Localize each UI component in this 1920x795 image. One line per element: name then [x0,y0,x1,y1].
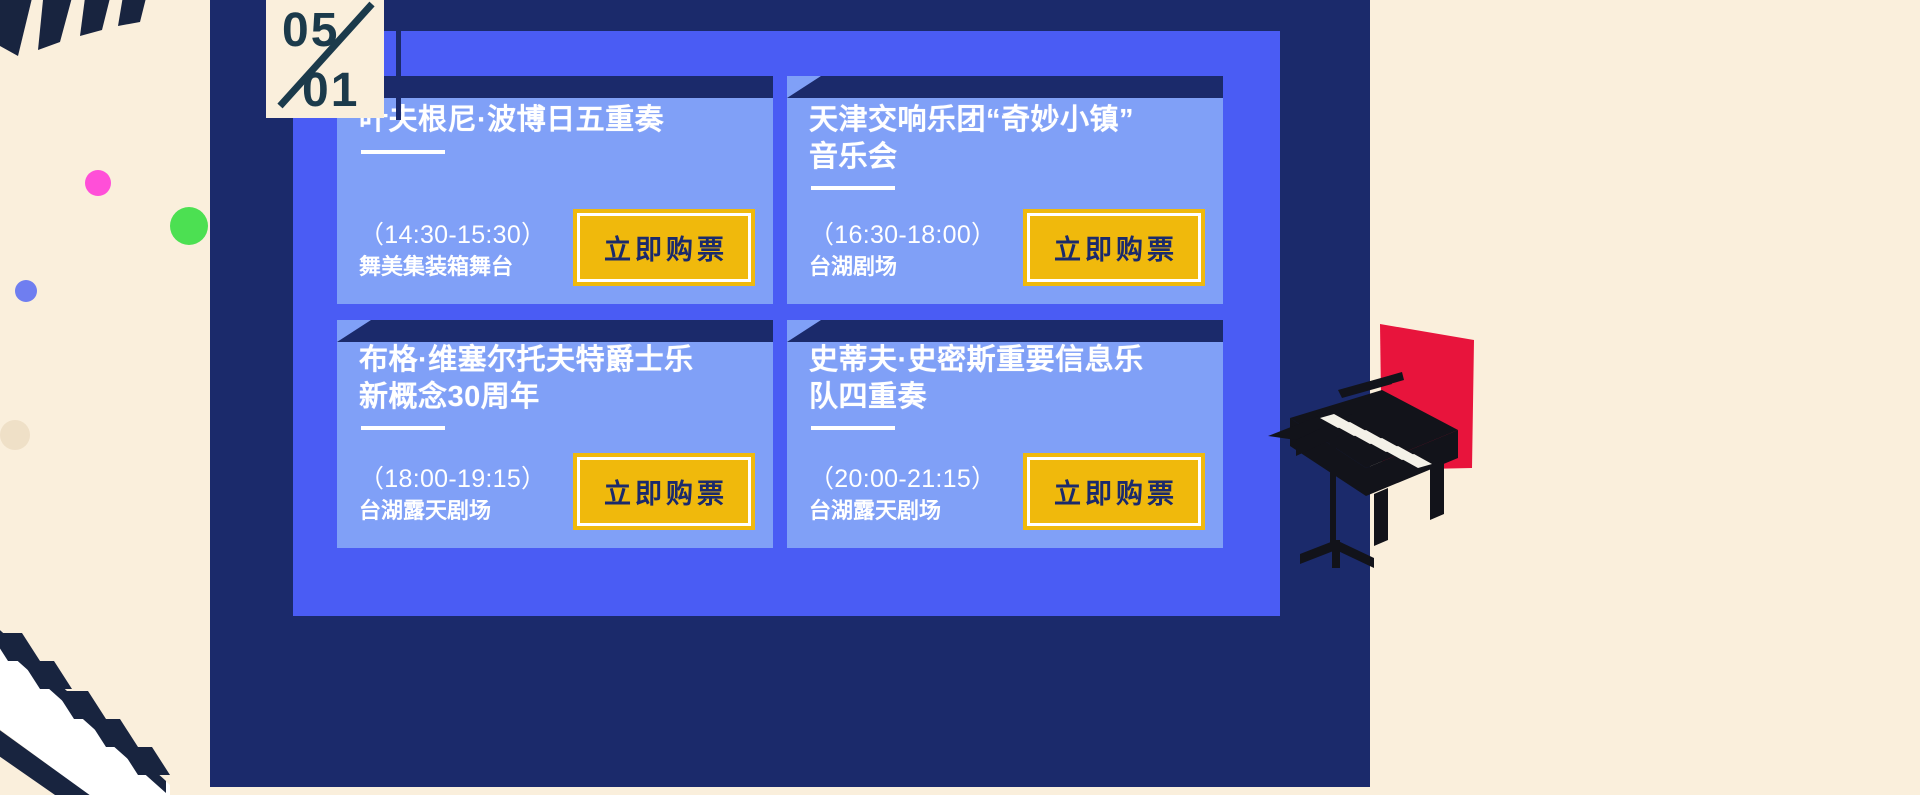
event-card[interactable]: 叶夫根尼·波博日五重奏 （14:30-15:30） 舞美集装箱舞台 立即购票 [337,76,773,304]
event-time: （14:30-15:30） [359,219,546,251]
buy-ticket-button[interactable]: 立即购票 [577,213,751,282]
piano-illustration [1262,318,1542,618]
title-underline [361,150,445,154]
title-underline [361,426,445,430]
event-title: 叶夫根尼·波博日五重奏 [359,102,747,139]
buy-ticket-button[interactable]: 立即购票 [577,457,751,526]
green-dot [170,207,208,245]
event-venue: 台湖露天剧场 [809,497,996,526]
event-title: 布格·维塞尔托夫特爵士乐 新概念30周年 [359,342,747,415]
event-card-grid: 叶夫根尼·波博日五重奏 （14:30-15:30） 舞美集装箱舞台 立即购票 天… [337,76,1242,548]
event-card[interactable]: 史蒂夫·史密斯重要信息乐 队四重奏 （20:00-21:15） 台湖露天剧场 立… [787,320,1223,548]
date-badge: 05 01 [266,0,384,118]
title-underline [811,426,895,430]
pink-dot [85,170,111,196]
event-time: （18:00-19:15） [359,463,546,495]
event-venue: 台湖剧场 [809,253,996,282]
event-title: 天津交响乐团“奇妙小镇” 音乐会 [809,102,1197,175]
event-meta: （18:00-19:15） 台湖露天剧场 [359,463,546,526]
pale-dot [0,420,30,450]
buy-ticket-button[interactable]: 立即购票 [1027,457,1201,526]
event-time: （20:00-21:15） [809,463,996,495]
event-venue: 舞美集装箱舞台 [359,253,546,282]
buy-ticket-button[interactable]: 立即购票 [1027,213,1201,282]
badge-vertical-rule [396,0,401,120]
event-card[interactable]: 布格·维塞尔托夫特爵士乐 新概念30周年 （18:00-19:15） 台湖露天剧… [337,320,773,548]
event-meta: （20:00-21:15） 台湖露天剧场 [809,463,996,526]
event-title: 史蒂夫·史密斯重要信息乐 队四重奏 [809,342,1197,415]
event-meta: （14:30-15:30） 舞美集装箱舞台 [359,219,546,282]
event-time: （16:30-18:00） [809,219,996,251]
title-underline [811,186,895,190]
piano-keys-top-decor [0,0,220,110]
poster-stage: 05 01 叶夫根尼·波博日五重奏 （14:30-15:30） 舞美集装箱舞台 … [0,0,1920,787]
event-card[interactable]: 天津交响乐团“奇妙小镇” 音乐会 （16:30-18:00） 台湖剧场 立即购票 [787,76,1223,304]
piano-keyboard-bottom-decor [0,455,250,795]
blue-dot [15,280,37,302]
event-meta: （16:30-18:00） 台湖剧场 [809,219,996,282]
event-venue: 台湖露天剧场 [359,497,546,526]
